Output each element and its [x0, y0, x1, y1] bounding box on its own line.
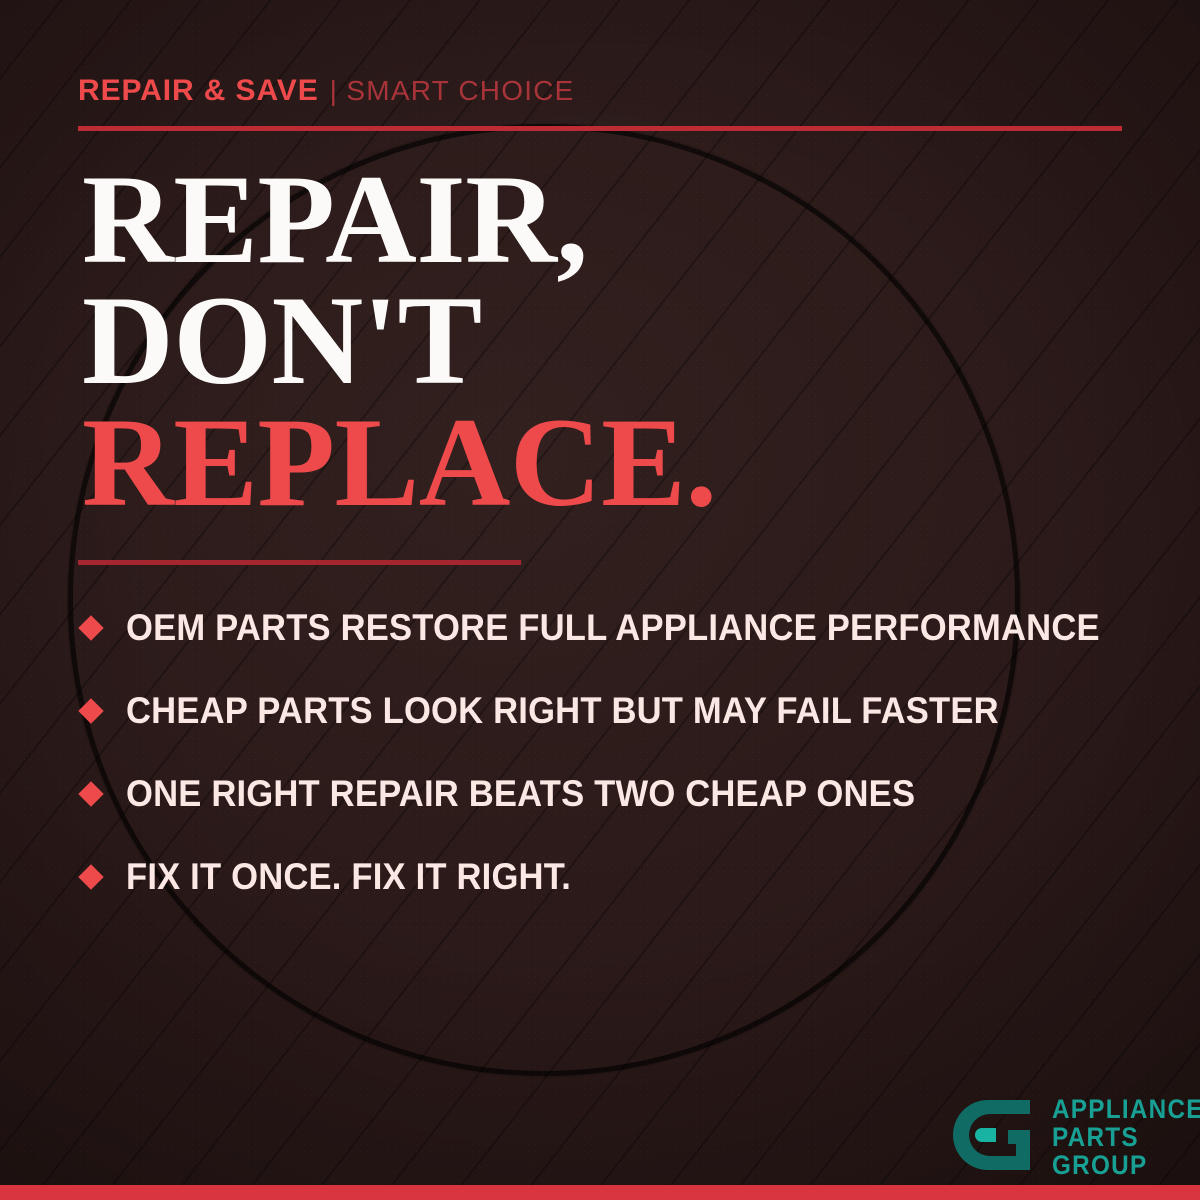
kicker-strong-text: REPAIR & SAVE	[78, 74, 319, 108]
appliance-parts-group-g-icon	[952, 1092, 1038, 1183]
header-divider-rule	[78, 126, 1122, 131]
headline-divider-rule	[78, 560, 521, 565]
diamond-bullet-icon	[78, 864, 103, 889]
diamond-bullet-icon	[78, 615, 103, 640]
list-item-label: ONE RIGHT REPAIR BEATS TWO CHEAP ONES	[126, 773, 915, 815]
brand-logo-line-3: GROUP	[1052, 1152, 1200, 1179]
headline-line-1: REPAIR,	[82, 160, 1142, 281]
kicker: REPAIR & SAVE | SMART CHOICE	[78, 74, 575, 108]
page-title: REPAIR, DON'T REPLACE.	[82, 160, 1142, 524]
list-item: OEM PARTS RESTORE FULL APPLIANCE PERFORM…	[78, 586, 1168, 669]
list-item: CHEAP PARTS LOOK RIGHT BUT MAY FAIL FAST…	[78, 669, 1168, 752]
kicker-separator: |	[319, 75, 347, 107]
brand-logo-wordmark: APPLIANCE PARTS GROUP	[1052, 1096, 1200, 1180]
benefit-list: OEM PARTS RESTORE FULL APPLIANCE PERFORM…	[78, 586, 1168, 918]
diamond-bullet-icon	[78, 781, 103, 806]
list-item-label: OEM PARTS RESTORE FULL APPLIANCE PERFORM…	[126, 607, 1100, 649]
headline-line-2: DON'T	[82, 281, 1142, 402]
list-item: ONE RIGHT REPAIR BEATS TWO CHEAP ONES	[78, 752, 1168, 835]
brand-logo: APPLIANCE PARTS GROUP	[952, 1092, 1200, 1183]
brand-logo-line-2: PARTS	[1052, 1124, 1200, 1151]
list-item-label: FIX IT ONCE. FIX IT RIGHT.	[126, 856, 571, 898]
headline-line-3: REPLACE.	[82, 403, 1142, 524]
footer-accent-bar	[0, 1185, 1200, 1200]
list-item-label: CHEAP PARTS LOOK RIGHT BUT MAY FAIL FAST…	[126, 690, 999, 732]
poster-canvas: REPAIR & SAVE | SMART CHOICE REPAIR, DON…	[0, 0, 1200, 1200]
diamond-bullet-icon	[78, 698, 103, 723]
list-item: FIX IT ONCE. FIX IT RIGHT.	[78, 835, 1168, 918]
kicker-light-text: SMART CHOICE	[346, 75, 574, 107]
brand-logo-line-1: APPLIANCE	[1052, 1096, 1200, 1123]
